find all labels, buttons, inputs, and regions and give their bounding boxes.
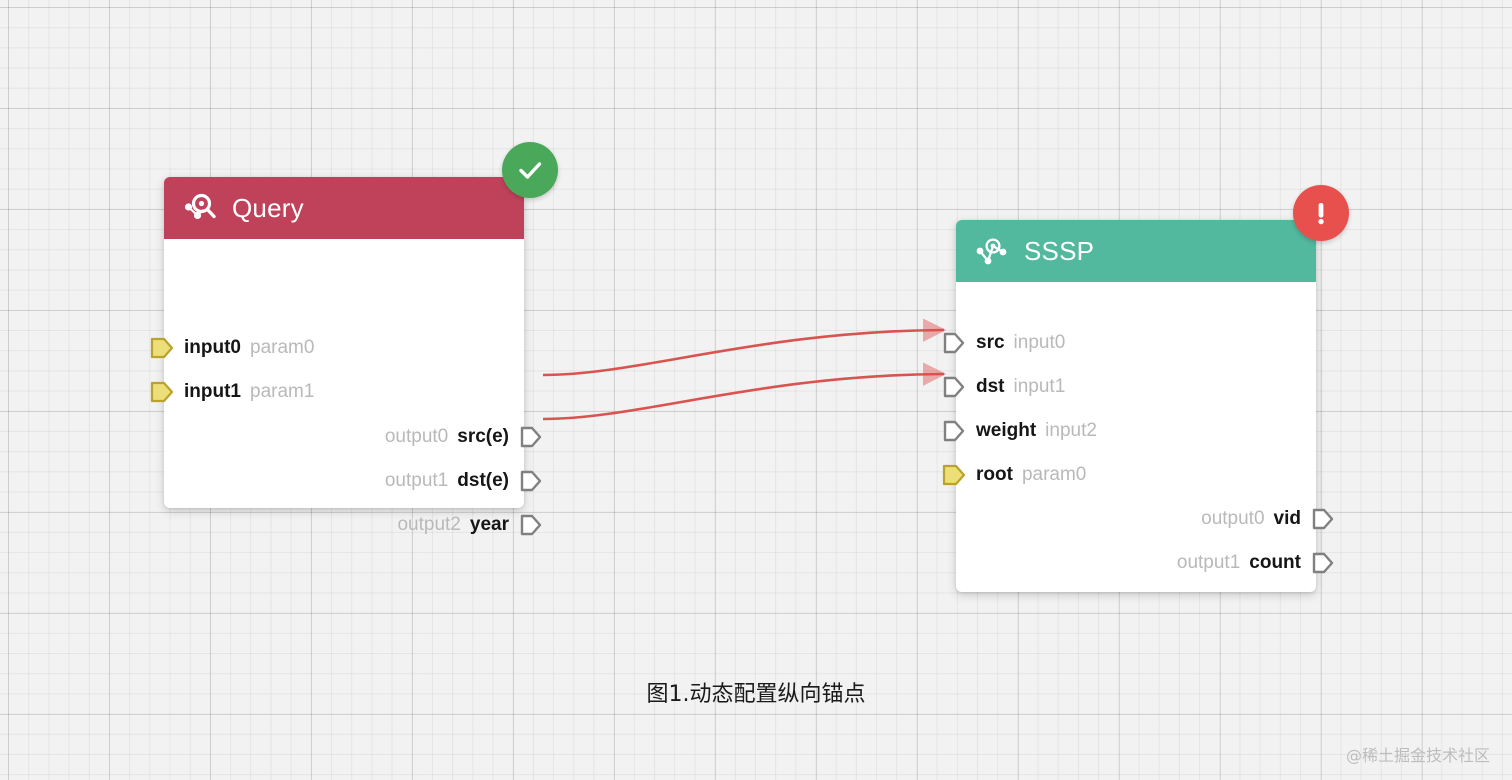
port-label-name: root — [976, 464, 1013, 486]
port-row-root[interactable]: root param0 — [942, 462, 1086, 488]
port-label-alias: output1 — [1177, 552, 1240, 574]
param-port-icon[interactable] — [150, 379, 174, 405]
watermark: @稀土掘金技术社区 — [1346, 742, 1490, 766]
edge-query-output0-to-sssp-src[interactable] — [543, 330, 944, 375]
port-label-name: vid — [1274, 508, 1301, 530]
port-label-alias: input2 — [1045, 420, 1097, 442]
exclamation-icon — [1304, 196, 1338, 230]
port-label-alias: output0 — [385, 426, 448, 448]
node-query[interactable]: Query input0 param0 input1 param1 — [164, 177, 524, 508]
check-icon — [513, 153, 547, 187]
port-label-name: input1 — [184, 381, 241, 403]
data-port-icon[interactable] — [1311, 550, 1335, 576]
node-query-title: Query — [232, 193, 304, 224]
figure-caption: 图1.动态配置纵向锚点 — [0, 676, 1512, 708]
graph-search-icon — [182, 190, 218, 226]
graph-node-icon — [974, 233, 1010, 269]
port-row-dst[interactable]: dst input1 — [942, 374, 1065, 400]
data-port-icon[interactable] — [1311, 506, 1335, 532]
node-query-body: input0 param0 input1 param1 s — [164, 239, 524, 508]
port-label-alias: param0 — [250, 337, 314, 359]
port-row-input0[interactable]: input0 param0 — [150, 335, 314, 361]
data-port-icon[interactable] — [519, 424, 543, 450]
port-label-name: src — [976, 332, 1005, 354]
edge-query-output1-to-sssp-dst[interactable] — [543, 374, 944, 419]
graph-canvas[interactable]: Query input0 param0 input1 param1 — [0, 0, 1512, 780]
port-row-output0[interactable]: src(e) output0 — [385, 424, 543, 450]
port-label-name: dst — [976, 376, 1005, 398]
port-label-name: dst(e) — [457, 470, 509, 492]
port-label-alias: param0 — [1022, 464, 1086, 486]
node-sssp-header[interactable]: SSSP — [956, 220, 1316, 282]
status-badge-error[interactable] — [1293, 185, 1349, 241]
port-label-alias: input1 — [1014, 376, 1066, 398]
port-label-name: year — [470, 514, 509, 536]
status-badge-success[interactable] — [502, 142, 558, 198]
data-port-icon[interactable] — [519, 468, 543, 494]
port-label-name: src(e) — [457, 426, 509, 448]
node-sssp[interactable]: SSSP src input0 dst input1 — [956, 220, 1316, 592]
data-port-icon[interactable] — [942, 374, 966, 400]
port-label-alias: output0 — [1201, 508, 1264, 530]
node-query-header[interactable]: Query — [164, 177, 524, 239]
port-row-vid[interactable]: vid output0 — [1201, 506, 1335, 532]
port-row-weight[interactable]: weight input2 — [942, 418, 1097, 444]
param-port-icon[interactable] — [150, 335, 174, 361]
data-port-icon[interactable] — [519, 512, 543, 538]
param-port-icon[interactable] — [942, 462, 966, 488]
port-label-name: input0 — [184, 337, 241, 359]
node-sssp-body: src input0 dst input1 weight — [956, 282, 1316, 592]
port-label-alias: output1 — [385, 470, 448, 492]
port-row-output2[interactable]: year output2 — [397, 512, 543, 538]
port-row-output1[interactable]: dst(e) output1 — [385, 468, 543, 494]
node-sssp-title: SSSP — [1024, 236, 1094, 267]
port-row-src[interactable]: src input0 — [942, 330, 1065, 356]
port-label-alias: output2 — [397, 514, 460, 536]
port-label-alias: param1 — [250, 381, 314, 403]
port-row-count[interactable]: count output1 — [1177, 550, 1335, 576]
port-label-name: weight — [976, 420, 1036, 442]
port-label-alias: input0 — [1014, 332, 1066, 354]
port-row-input1[interactable]: input1 param1 — [150, 379, 314, 405]
data-port-icon[interactable] — [942, 330, 966, 356]
data-port-icon[interactable] — [942, 418, 966, 444]
port-label-name: count — [1249, 552, 1301, 574]
